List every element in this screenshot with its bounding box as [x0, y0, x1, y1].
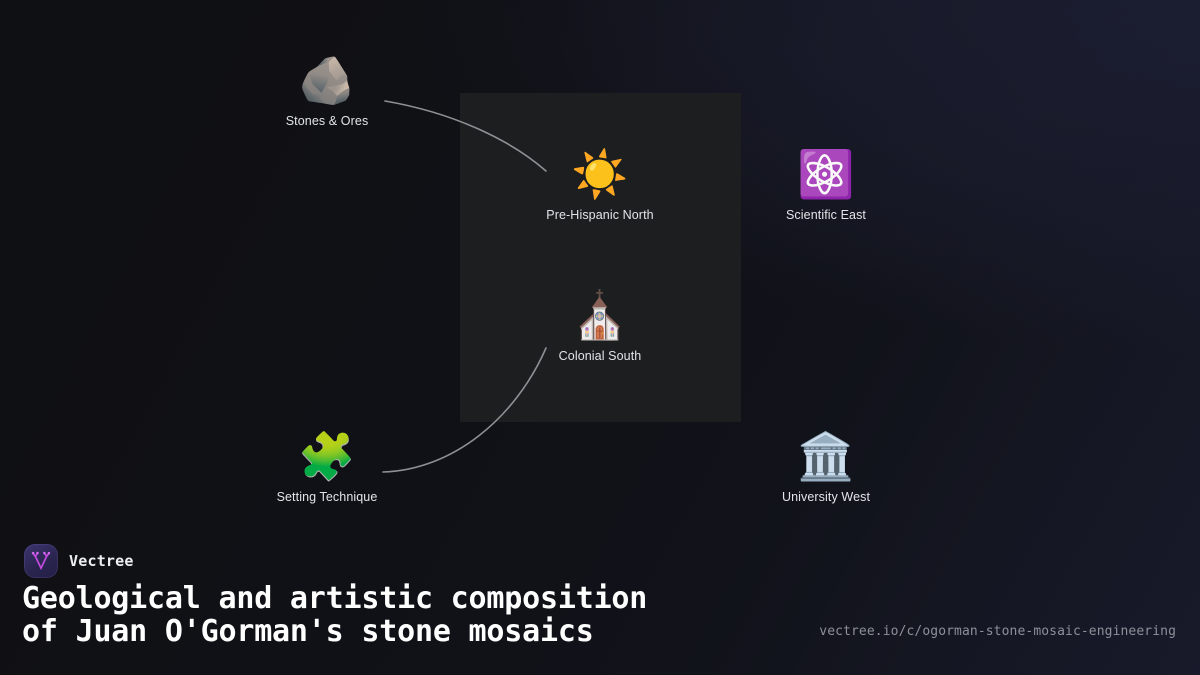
- node-label: Pre-Hispanic North: [510, 208, 690, 223]
- vectree-logo-icon: [24, 544, 58, 578]
- atom-symbol-icon: ⚛️: [736, 146, 916, 202]
- source-url: vectree.io/c/ogorman-stone-mosaic-engine…: [819, 624, 1176, 639]
- footer-bar: Vectree Geological and artistic composit…: [0, 532, 1200, 675]
- graph-node-colonial-south[interactable]: ⛪ Colonial South: [510, 287, 690, 364]
- node-label: Scientific East: [736, 208, 916, 223]
- title-line-2: of Juan O'Gorman's stone mosaics: [22, 614, 594, 649]
- graph-node-pre-hispanic-north[interactable]: ☀️ Pre-Hispanic North: [510, 146, 690, 223]
- graph-node-stones-ores[interactable]: 🪨 Stones & Ores: [237, 52, 417, 129]
- node-label: Colonial South: [510, 349, 690, 364]
- node-label: Stones & Ores: [237, 114, 417, 129]
- center-group-panel: [460, 93, 741, 422]
- title-line-1: Geological and artistic composition: [22, 581, 647, 616]
- node-label: University West: [736, 490, 916, 505]
- graph-canvas[interactable]: 🪨 Stones & Ores ☀️ Pre-Hispanic North ⚛️…: [0, 0, 1200, 532]
- graph-node-scientific-east[interactable]: ⚛️ Scientific East: [736, 146, 916, 223]
- brand-name: Vectree: [69, 552, 134, 570]
- classical-building-icon: 🏛️: [736, 428, 916, 484]
- page-title: Geological and artistic composition of J…: [22, 582, 647, 648]
- node-label: Setting Technique: [237, 490, 417, 505]
- brand-row[interactable]: Vectree: [24, 544, 134, 578]
- graph-node-setting-technique[interactable]: 🧩 Setting Technique: [237, 428, 417, 505]
- screenshot-root: 🪨 Stones & Ores ☀️ Pre-Hispanic North ⚛️…: [0, 0, 1200, 675]
- rock-icon: 🪨: [237, 52, 417, 108]
- puzzle-piece-icon: 🧩: [237, 428, 417, 484]
- graph-node-university-west[interactable]: 🏛️ University West: [736, 428, 916, 505]
- church-icon: ⛪: [510, 287, 690, 343]
- sun-icon: ☀️: [510, 146, 690, 202]
